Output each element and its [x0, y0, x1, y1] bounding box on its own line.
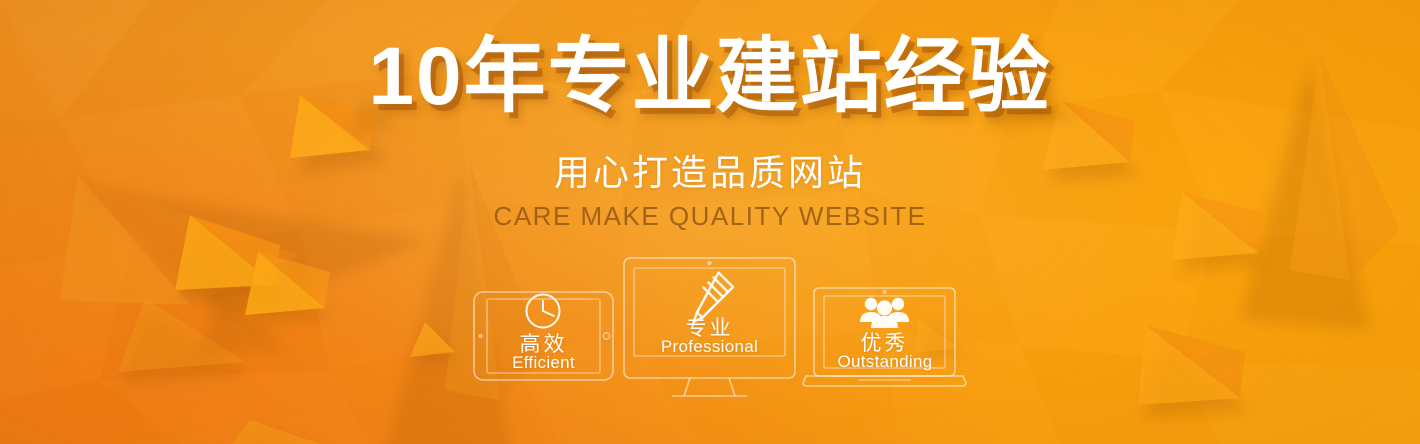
- banner-subtitle-chinese: 用心打造品质网站: [0, 152, 1420, 193]
- banner-subtitle-english: CARE MAKE QUALITY WEBSITE: [0, 201, 1420, 232]
- promo-banner: 10年专业建站经验 用心打造品质网站 CARE MAKE QUALITY WEB…: [0, 0, 1420, 444]
- banner-headline: 10年专业建站经验: [0, 36, 1420, 118]
